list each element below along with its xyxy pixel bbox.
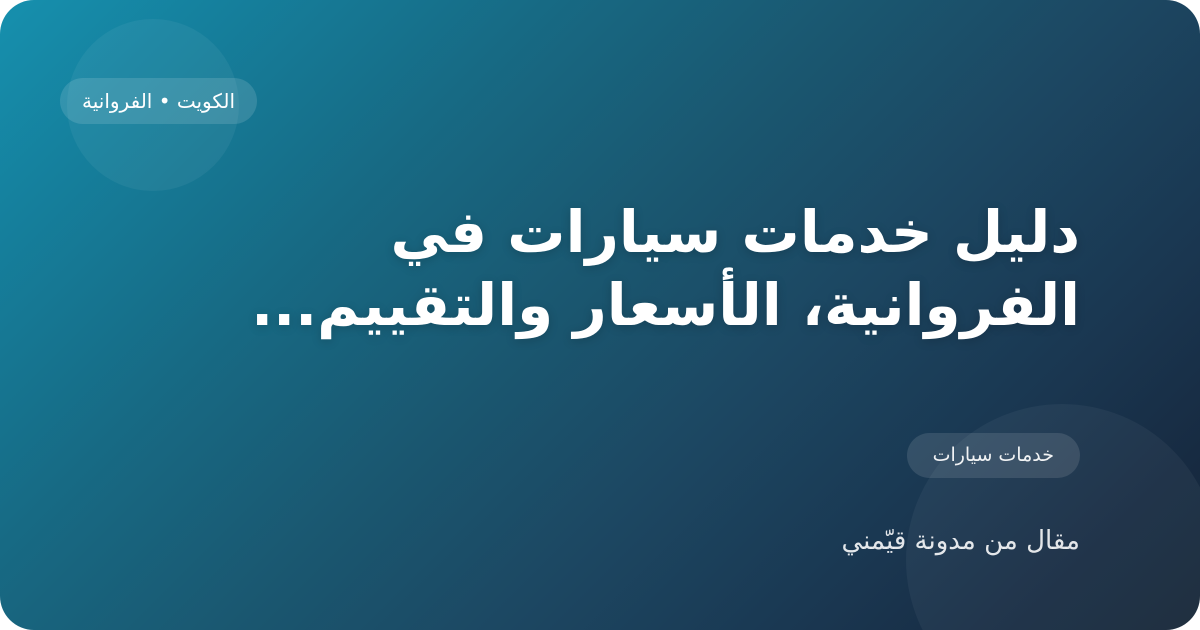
location-badge-label: الكويت • الفروانية	[82, 91, 235, 111]
card-content: الكويت • الفروانية دليل خدمات سيارات في …	[0, 0, 1200, 630]
social-share-card: الكويت • الفروانية دليل خدمات سيارات في …	[0, 0, 1200, 630]
page-title: دليل خدمات سيارات في الفروانية، الأسعار …	[120, 196, 1080, 342]
location-badge: الكويت • الفروانية	[60, 78, 257, 124]
blog-attribution: مقال من مدونة قيّمني	[841, 524, 1080, 558]
category-tag-label: خدمات سيارات	[933, 446, 1054, 465]
category-tag: خدمات سيارات	[907, 433, 1080, 478]
